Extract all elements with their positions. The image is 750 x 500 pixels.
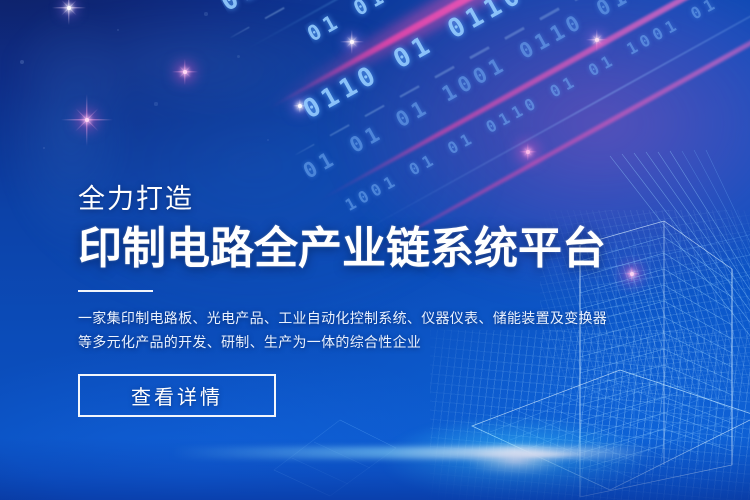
bottom-fade xyxy=(0,438,750,500)
hero-content: 全力打造 印制电路全产业链系统平台 一家集印制电路板、光电产品、工业自动化控制系… xyxy=(78,186,598,417)
hero-description: 一家集印制电路板、光电产品、工业自动化控制系统、仪器仪表、储能装置及变换器 等多… xyxy=(78,306,598,354)
view-details-button[interactable]: 查看详情 xyxy=(78,374,276,417)
description-line: 等多元化产品的开发、研制、生产为一体的综合性企业 xyxy=(78,330,598,354)
star-dust xyxy=(154,102,157,105)
star-dust xyxy=(20,60,24,64)
sparkle-icon xyxy=(52,0,86,25)
description-line: 一家集印制电路板、光电产品、工业自动化控制系统、仪器仪表、储能装置及变换器 xyxy=(78,306,598,330)
sparkle-icon xyxy=(61,94,113,146)
star-dust xyxy=(267,139,270,142)
star-dust xyxy=(117,29,120,32)
hero-divider xyxy=(78,290,153,292)
view-details-label: 查看详情 xyxy=(131,381,223,410)
star-dust xyxy=(204,12,207,15)
sparkle-icon xyxy=(172,59,198,85)
star-dust xyxy=(43,147,45,149)
star-dust xyxy=(237,55,240,58)
hero-headline: 印制电路全产业链系统平台 xyxy=(78,226,598,272)
hero-kicker: 全力打造 xyxy=(78,186,598,213)
sparkle-icon xyxy=(293,99,307,113)
hero-banner: 01 0110 01 10 01 1001 01 0110 0110 1 100… xyxy=(0,0,750,500)
